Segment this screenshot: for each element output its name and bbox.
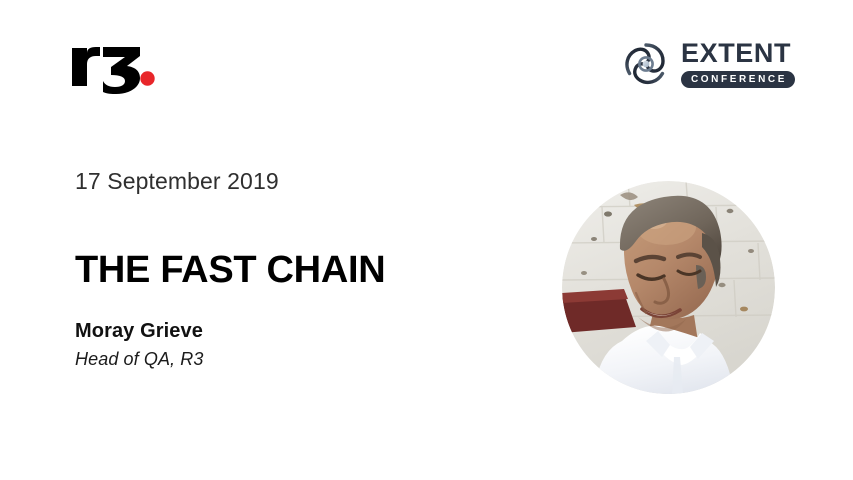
extent-conference-logo: EXTENT CONFERENCE [620, 38, 795, 90]
speaker-photo [562, 181, 775, 394]
speaker-name: Moray Grieve [75, 319, 505, 344]
extent-wordmark: EXTENT [681, 40, 795, 67]
extent-swirl-icon [620, 38, 672, 90]
r3-logo-dot [140, 71, 154, 85]
slide-text-column: 17 September 2019 THE FAST CHAIN Moray G… [75, 168, 505, 371]
speaker-block: Moray Grieve Head of QA, R3 [75, 319, 505, 371]
extent-logo-text: EXTENT CONFERENCE [681, 40, 795, 88]
speaker-avatar [562, 181, 775, 394]
r3-logo [70, 34, 160, 94]
title-slide: EXTENT CONFERENCE 17 September 2019 THE … [0, 0, 853, 480]
page-title: THE FAST CHAIN [75, 251, 505, 291]
talk-date: 17 September 2019 [75, 168, 505, 196]
conference-badge: CONFERENCE [681, 71, 795, 88]
speaker-role: Head of QA, R3 [75, 348, 505, 371]
r3-logo-mark [70, 34, 160, 94]
